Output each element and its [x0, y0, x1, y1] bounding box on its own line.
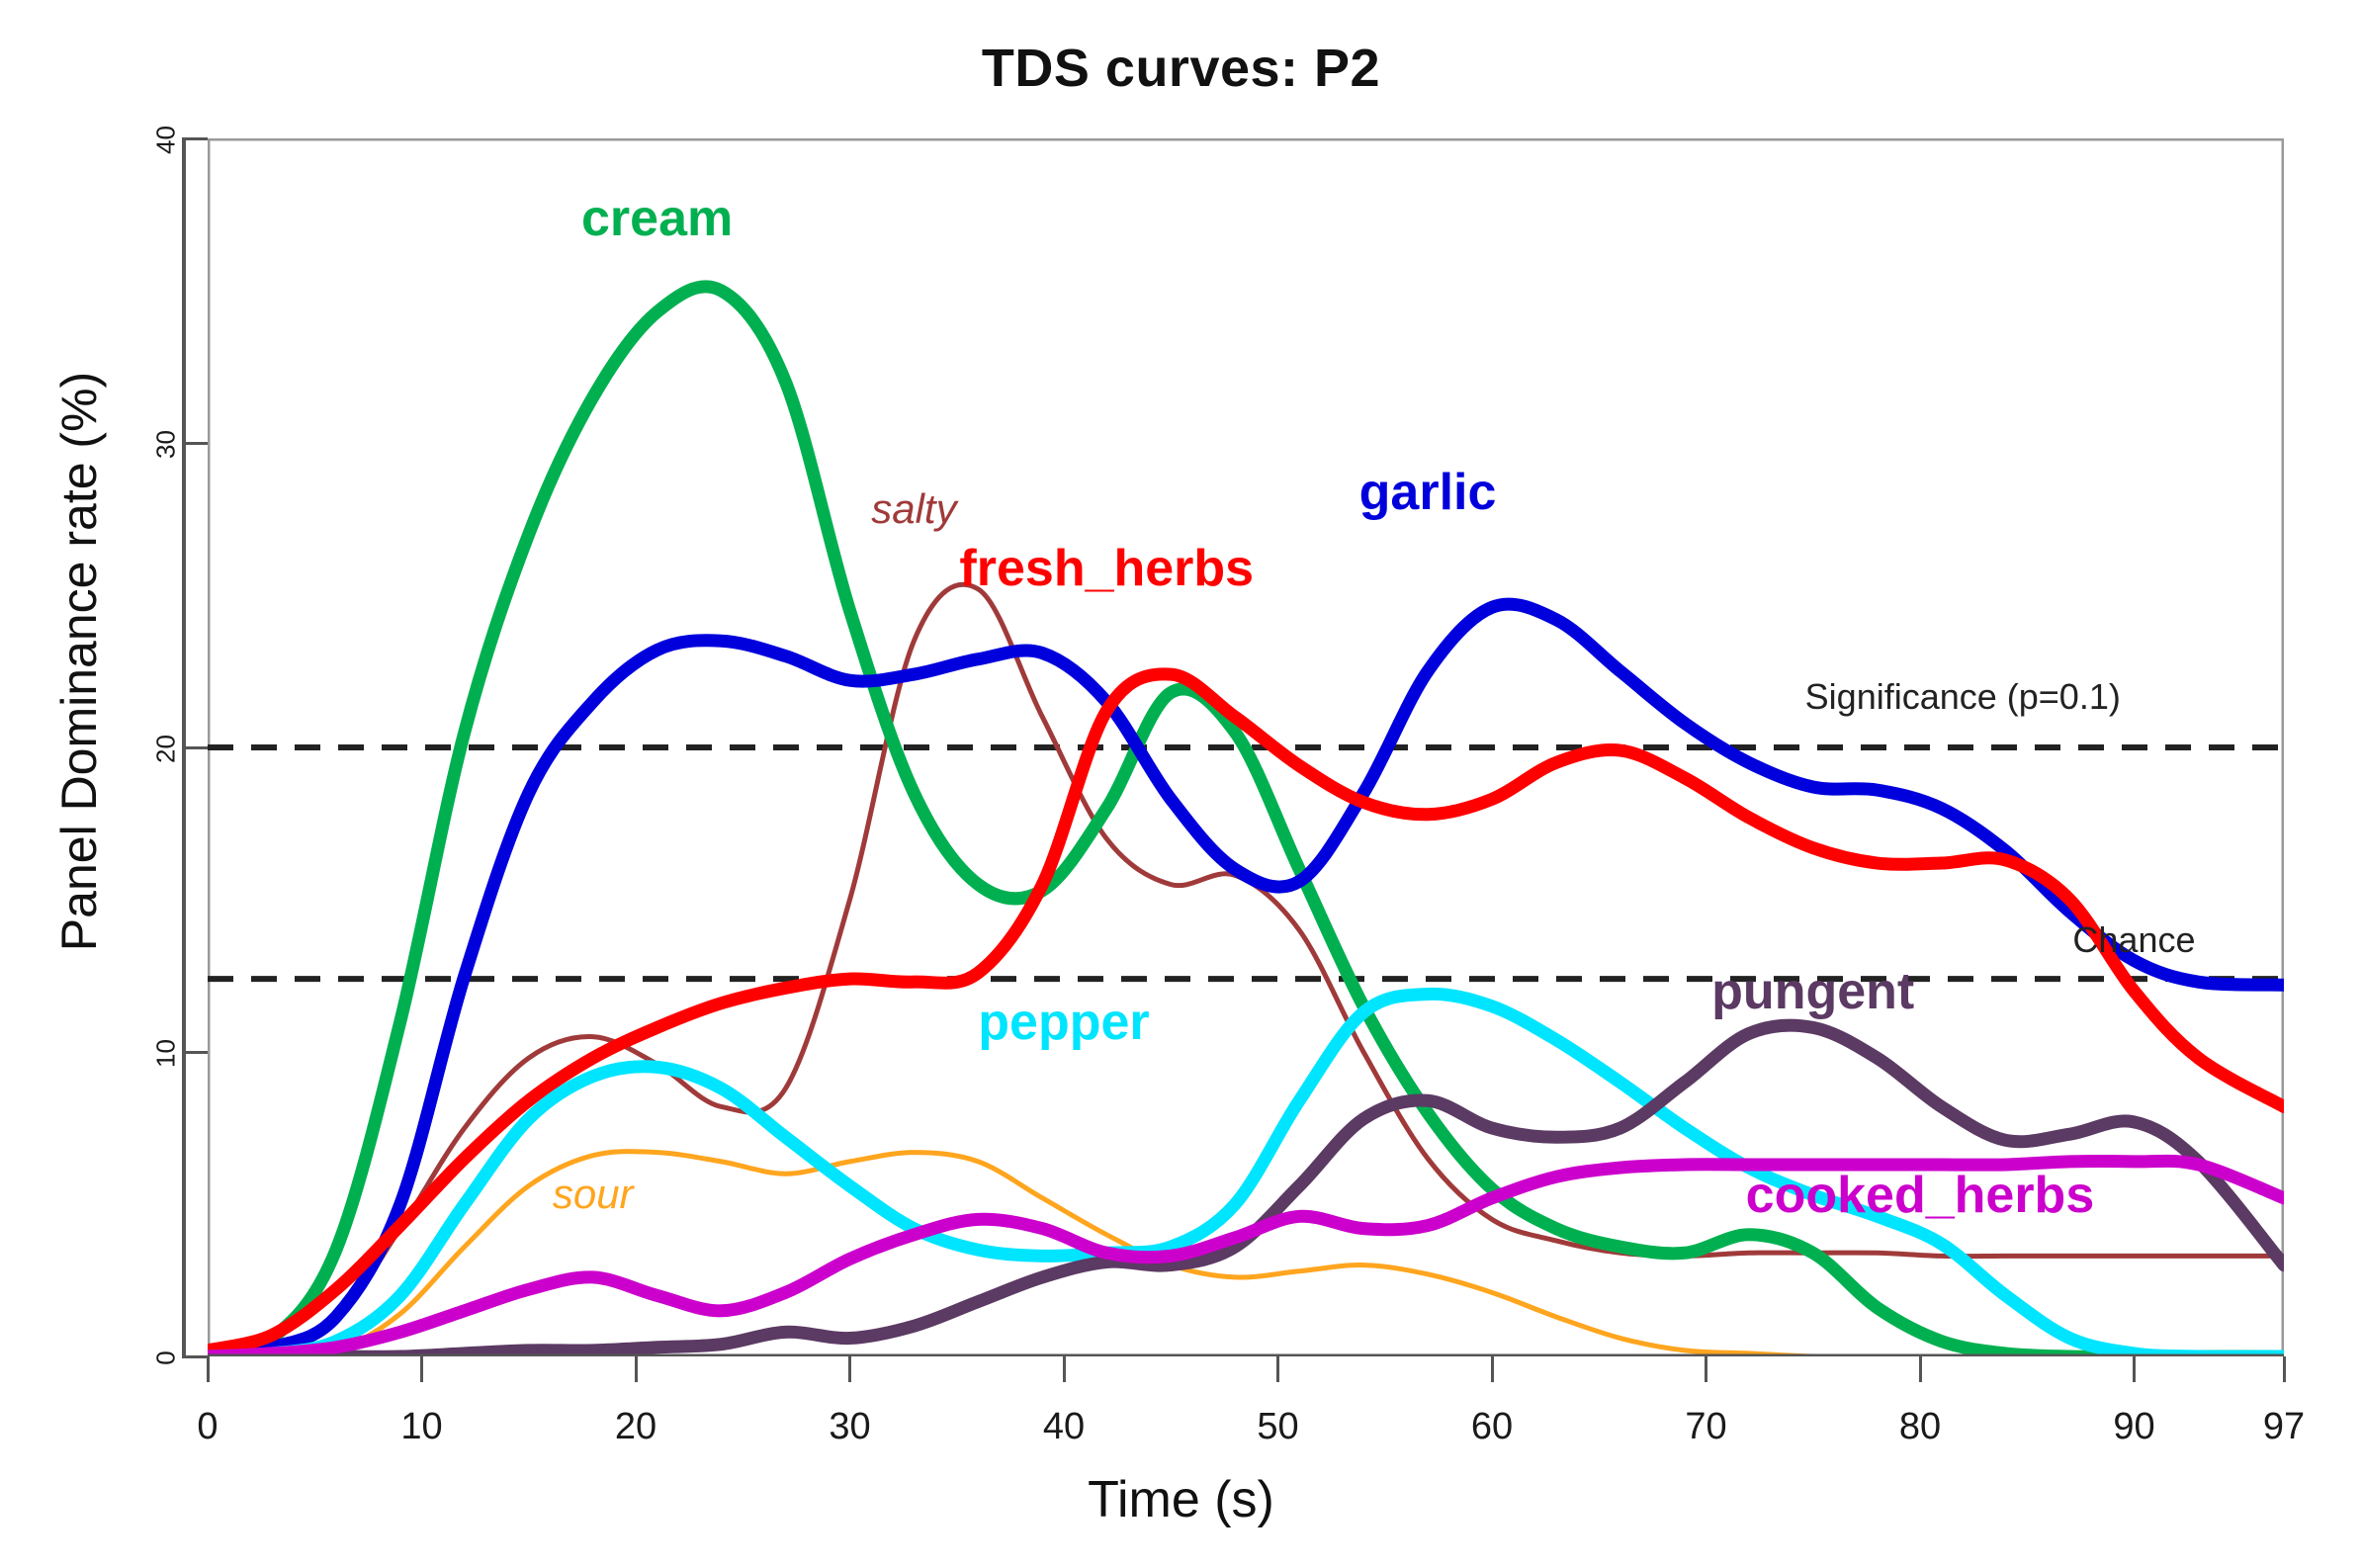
y-axis-title: Panel Dominance rate (%) [50, 286, 108, 1037]
x-tick-mark [848, 1356, 851, 1382]
x-tick-label: 10 [377, 1406, 466, 1448]
x-tick-label: 80 [1876, 1406, 1965, 1448]
x-axis-title: Time (s) [0, 1470, 2362, 1529]
annotation-chance-label: Chance [2072, 919, 2195, 961]
x-tick-label: 20 [591, 1406, 680, 1448]
x-tick-label: 0 [163, 1406, 252, 1448]
x-tick-mark [1919, 1356, 1922, 1382]
chart-page: TDS curves: P2 Panel Dominance rate (%) … [0, 0, 2362, 1568]
annotation-garlic: garlic [1359, 463, 1497, 522]
annotation-cream: cream [581, 189, 733, 248]
annotation-sour: sour [553, 1171, 634, 1218]
x-tick-mark [1705, 1356, 1707, 1382]
x-tick-label: 97 [2239, 1406, 2328, 1448]
x-tick-mark [2283, 1356, 2286, 1382]
x-tick-label: 60 [1447, 1406, 1536, 1448]
y-tick-label: 30 [151, 415, 182, 475]
x-tick-label: 30 [805, 1406, 894, 1448]
x-tick-mark [207, 1356, 210, 1382]
x-tick-mark [1491, 1356, 1494, 1382]
annotation-salty: salty [871, 485, 956, 533]
x-tick-label: 90 [2089, 1406, 2178, 1448]
annotation-fresh_herbs: fresh_herbs [959, 539, 1254, 598]
x-tick-mark [1063, 1356, 1066, 1382]
x-tick-label: 70 [1661, 1406, 1750, 1448]
annotation-cooked_herbs: cooked_herbs [1746, 1166, 2095, 1225]
y-tick-label: 10 [151, 1024, 182, 1084]
series-line-fresh_herbs[interactable] [208, 674, 2284, 1350]
x-tick-mark [635, 1356, 638, 1382]
x-tick-mark [2133, 1356, 2136, 1382]
annotation-pepper: pepper [978, 993, 1149, 1052]
x-tick-label: 40 [1019, 1406, 1108, 1448]
y-axis-line [182, 138, 186, 1356]
y-tick-label: 20 [151, 720, 182, 779]
x-tick-label: 50 [1233, 1406, 1322, 1448]
annotation-pungent: pungent [1711, 962, 1914, 1021]
annotation-significance-label: Significance (p=0.1) [1805, 676, 2121, 718]
x-tick-mark [420, 1356, 423, 1382]
x-tick-mark [1276, 1356, 1279, 1382]
y-tick-label: 0 [151, 1329, 182, 1388]
y-tick-label: 40 [151, 111, 182, 170]
page-title: TDS curves: P2 [0, 38, 2362, 99]
